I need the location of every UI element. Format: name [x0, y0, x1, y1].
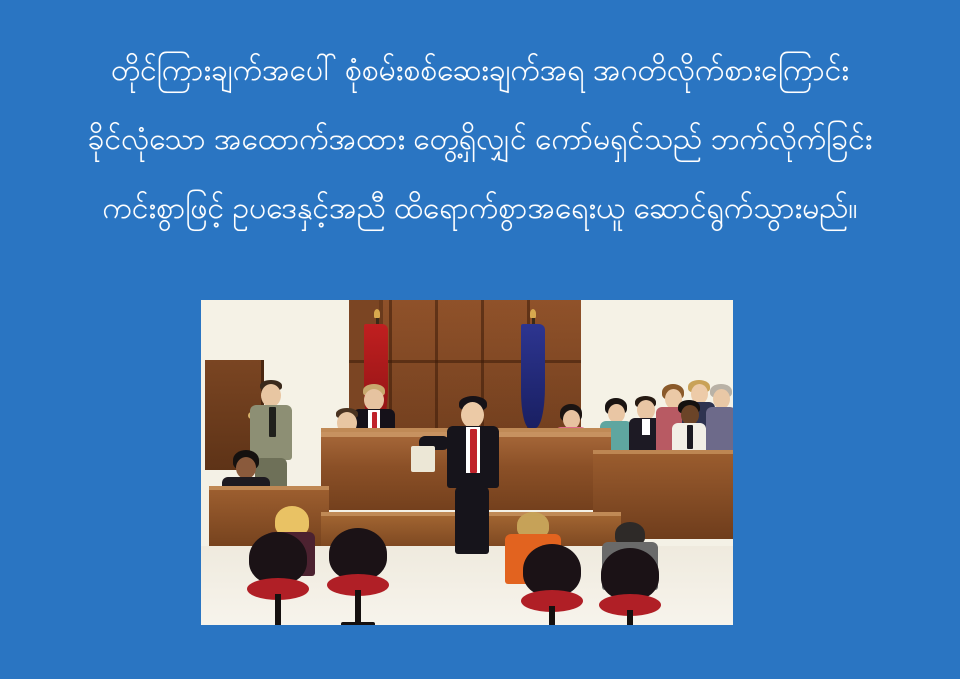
flag-finial-right	[530, 309, 536, 318]
juror-5-tie	[687, 425, 693, 449]
headline-line-2: ခိုင်လုံသော အထောက်အထား တွေ့ရှိလျှင် ကော်…	[0, 105, 960, 174]
chair-stem	[627, 610, 633, 625]
courtroom-scene	[201, 300, 733, 625]
chair-back	[249, 532, 307, 584]
person-lawyer-standing	[445, 396, 501, 556]
headline-line-3: ကင်းစွာဖြင့် ဥပဒေနှင့်အညီ ထိရောက်စွာအရေး…	[0, 174, 960, 243]
chair-back	[329, 528, 387, 580]
chair-stem	[549, 606, 555, 625]
lawyer-tie	[470, 429, 477, 473]
courtroom-illustration	[201, 300, 733, 625]
juror-6-top	[706, 407, 733, 453]
lawyer-head	[461, 402, 484, 428]
person-juror-6	[706, 384, 733, 454]
headline-line-1: တိုင်ကြားချက်အပေါ် စုံစမ်းစစ်ဆေးချက်အရ အ…	[0, 36, 960, 105]
headline-text-block: တိုင်ကြားချက်အပေါ် စုံစမ်းစစ်ဆေးချက်အရ အ…	[0, 36, 960, 243]
lawyer-document-held	[411, 446, 435, 472]
chair-back	[523, 544, 581, 596]
chair-stem	[275, 594, 281, 625]
juror-5-head	[681, 405, 699, 425]
chair-stem	[355, 590, 361, 624]
witness-head	[261, 384, 281, 407]
juror-2-shirt	[642, 419, 650, 435]
flag-blue	[521, 324, 545, 428]
flag-finial-left	[374, 309, 380, 318]
juror-6-head	[713, 389, 730, 409]
clerk-head	[236, 457, 256, 479]
chair-foot	[341, 622, 375, 625]
juror-2-head	[637, 400, 655, 420]
chair-back	[601, 548, 659, 600]
lawyer-trousers	[455, 486, 489, 554]
slide-canvas: တိုင်ကြားချက်အပေါ် စုံစမ်းစစ်ဆေးချက်အရ အ…	[0, 0, 960, 679]
witness-tie	[269, 407, 276, 437]
